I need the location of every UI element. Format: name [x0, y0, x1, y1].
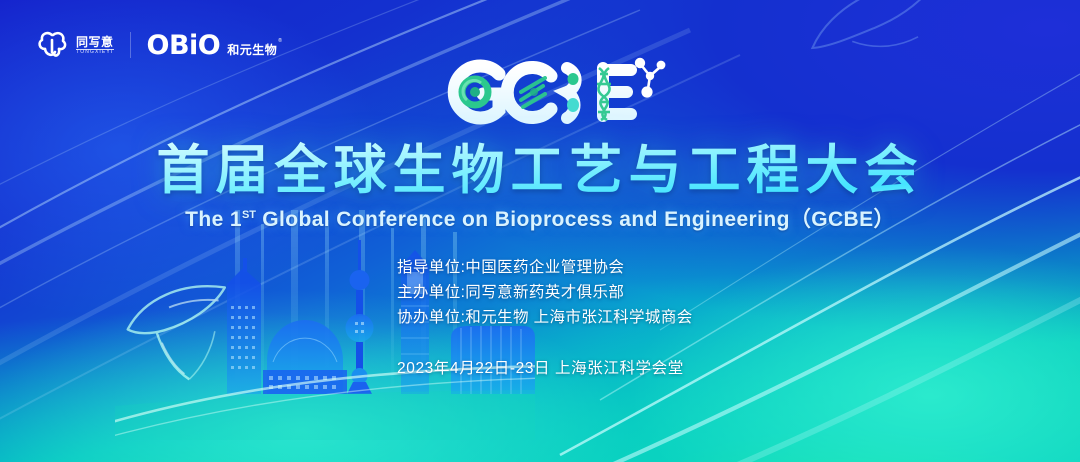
obio-wordmark: OBiO — [147, 32, 221, 59]
tongxieyi-en-label: TONGXIEYI — [76, 50, 113, 55]
obio-logo[interactable]: OBiO 和元生物® — [147, 32, 282, 59]
gcbe-letter-c — [507, 68, 551, 118]
organizer-line-coorganizer: 协办单位:和元生物 上海市张江科学城商会 — [397, 305, 693, 330]
gcbe-letter-g — [454, 66, 499, 118]
organizer-line-host: 主办单位:同写意新药英才俱乐部 — [397, 280, 693, 305]
office-tower — [227, 258, 261, 394]
organizer-line-guidance: 指导单位:中国医药企业管理协会 — [397, 255, 693, 280]
conference-banner: 同写意 TONGXIEYI OBiO 和元生物® — [0, 0, 1080, 462]
title-en-prefix: The 1 — [185, 208, 242, 231]
conference-info: 指导单位:中国医药企业管理协会 主办单位:同写意新药英才俱乐部 协办单位:和元生… — [397, 255, 693, 378]
title-en-rest: Global Conference on Bioprocess and Engi… — [256, 208, 895, 231]
title-en-ordinal: ST — [242, 209, 256, 221]
tongxieyi-logo[interactable]: 同写意 TONGXIEYI — [36, 28, 114, 62]
dome-hall — [263, 320, 347, 394]
gcbe-logo — [443, 52, 663, 134]
oriental-pearl-tower — [346, 240, 374, 394]
page-title-cn: 首届全球生物工艺与工程大会 — [157, 128, 924, 204]
gcbe-letter-b — [565, 66, 579, 118]
whale-silhouette — [123, 283, 237, 387]
partner-logo-row: 同写意 TONGXIEYI OBiO 和元生物® — [36, 28, 281, 62]
obio-cn-label: 和元生物® — [227, 41, 281, 58]
date-venue-line: 2023年4月22日-23日 上海张江科学会堂 — [397, 356, 693, 378]
tongxieyi-cn-label: 同写意 — [76, 36, 114, 50]
molecule-icon — [635, 58, 666, 98]
gcbe-letter-e — [597, 68, 631, 120]
page-title-en: The 1ST Global Conference on Bioprocess … — [185, 203, 895, 233]
whale-silhouette-top — [802, 0, 953, 70]
logo-divider — [130, 32, 131, 58]
flower-icon — [36, 28, 70, 62]
